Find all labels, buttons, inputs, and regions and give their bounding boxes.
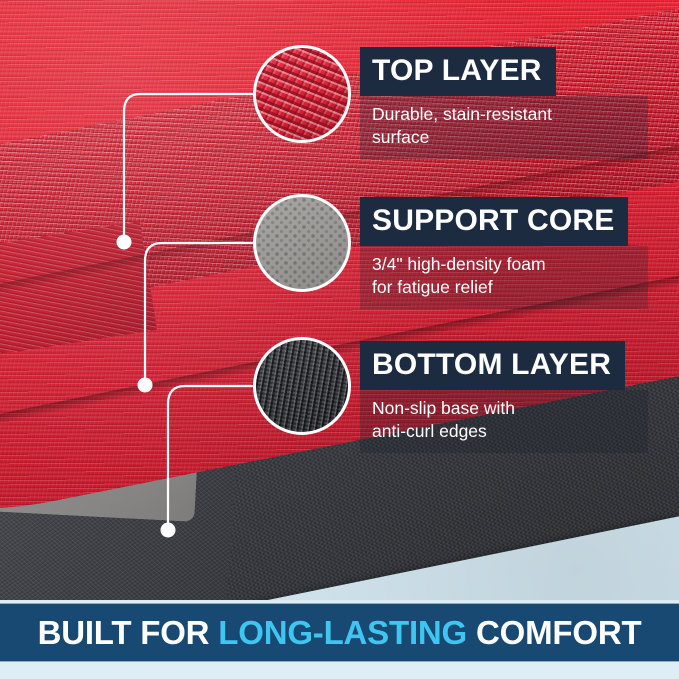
tagline-trail: COMFORT: [467, 614, 641, 651]
callout-bottom-layer: BOTTOM LAYER Non-slip base with anti-cur…: [360, 341, 648, 453]
callout-support-core-description: 3/4" high-density foam for fatigue relie…: [360, 246, 648, 309]
callout-bottom-layer-title: BOTTOM LAYER: [360, 341, 625, 390]
product-infographic: TOP LAYER Durable, stain-resistant surfa…: [0, 0, 679, 679]
tagline-banner: BUILT FOR LONG-LASTING COMFORT: [0, 604, 679, 661]
callout-top-layer-title: TOP LAYER: [360, 47, 556, 96]
tagline-lead: BUILT FOR: [38, 614, 219, 651]
tagline-accent: LONG-LASTING: [218, 614, 467, 651]
foam-texture-zoom-icon: [253, 194, 351, 292]
callout-bottom-layer-description: Non-slip base with anti-curl edges: [360, 390, 648, 453]
callout-support-core: SUPPORT CORE 3/4" high-density foam for …: [360, 197, 648, 309]
non-slip-weave-zoom-icon: [253, 337, 351, 435]
callout-top-layer: TOP LAYER Durable, stain-resistant surfa…: [360, 47, 648, 159]
product-photo: TOP LAYER Durable, stain-resistant surfa…: [0, 0, 679, 600]
callout-top-layer-description: Durable, stain-resistant surface: [360, 96, 648, 159]
callout-support-core-title: SUPPORT CORE: [360, 197, 628, 246]
fabric-weave-zoom-icon: [253, 45, 351, 143]
tagline-text: BUILT FOR LONG-LASTING COMFORT: [38, 614, 642, 652]
